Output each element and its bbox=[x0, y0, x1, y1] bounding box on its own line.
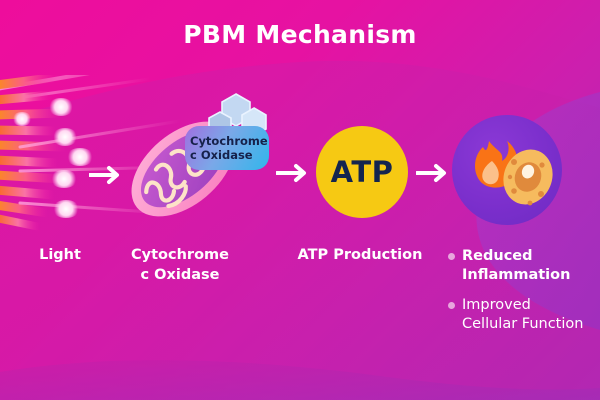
benefit-text: Improved Cellular Function bbox=[462, 296, 583, 334]
outcome-icons-group bbox=[452, 115, 562, 225]
benefits-list: Reduced Inflammation Improved Cellular F… bbox=[448, 247, 600, 344]
arrow-atp-to-outcomes bbox=[416, 160, 454, 186]
page-title: PBM Mechanism bbox=[0, 20, 600, 49]
atp-circle-icon: ATP bbox=[316, 126, 408, 218]
stage-label-cytochrome-c-oxidase: Cytochrome c Oxidase bbox=[100, 246, 260, 285]
badge-line-1: Cytochrome c bbox=[190, 134, 269, 148]
benefit-text: Reduced Inflammation bbox=[462, 247, 570, 285]
bullet-dot-icon bbox=[448, 302, 455, 309]
list-item: Reduced Inflammation bbox=[448, 247, 600, 285]
cytochrome-oxidase-badge: Cytochrome c c Oxidase bbox=[185, 126, 269, 170]
cell-icon bbox=[495, 142, 560, 212]
stage-label-atp-production: ATP Production bbox=[280, 246, 440, 266]
bullet-dot-icon bbox=[448, 253, 455, 260]
list-item: Improved Cellular Function bbox=[448, 296, 600, 334]
infographic-canvas: PBM Mechanism bbox=[0, 0, 600, 400]
atp-label-text: ATP bbox=[331, 155, 394, 189]
arrow-mito-to-atp bbox=[276, 160, 314, 186]
badge-line-2: c Oxidase bbox=[190, 148, 253, 162]
